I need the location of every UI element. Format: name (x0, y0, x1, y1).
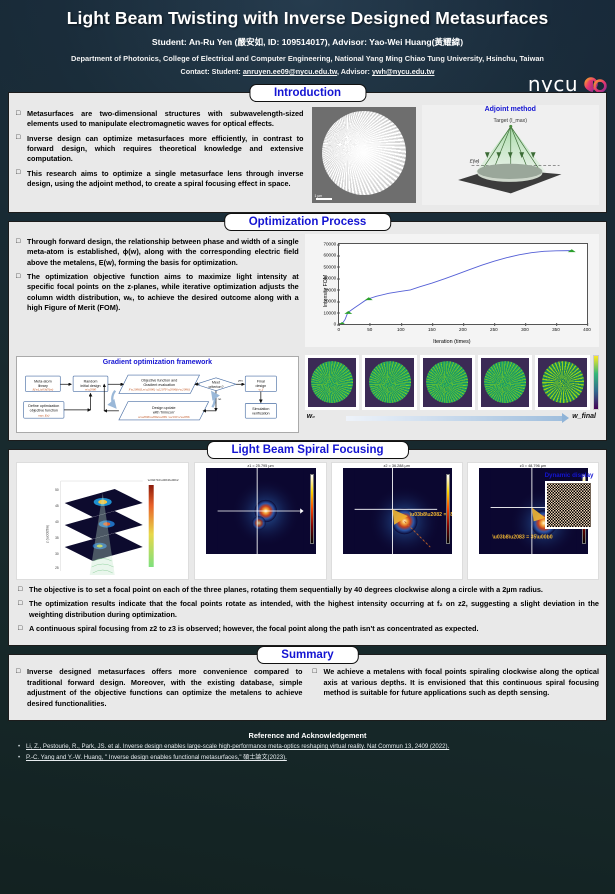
summary-bullet-right: We achieve a metalens with focal points … (313, 667, 600, 698)
fom-ytick: 60000 (323, 253, 336, 258)
svg-text:w\u2096\u208a\u2081 \u2190 w\u: w\u2096\u208a\u2081 \u2190 w\u2096 (138, 415, 190, 419)
summary-title: Summary (256, 646, 358, 664)
svg-text:35: 35 (55, 536, 59, 540)
authors-line: Student: An-Ru Yen (嚴安如, ID: 109514017),… (10, 36, 605, 48)
opt-bullet-1: Through forward design, the relationship… (16, 237, 299, 268)
svg-text:30: 30 (55, 552, 59, 556)
fom-ytick: 30000 (323, 287, 336, 292)
adjoint-target-label: Target (I_max) (494, 118, 527, 124)
w-final-label: w_final (572, 413, 596, 420)
focal-map-z1-image (206, 468, 315, 554)
focal-map-z1-colorbar (310, 474, 314, 544)
svg-text:50: 50 (55, 488, 59, 492)
summary-panel: Summary Inverse designed metasurfaces of… (8, 654, 607, 720)
reference-item-2: P.-C. Yang and Y.-W. Huang, " Inverse de… (16, 754, 599, 762)
svg-text:max I(x): max I(x) (38, 413, 49, 417)
svg-text:45: 45 (55, 504, 59, 508)
contact-prefix: Contact: Student: (181, 67, 243, 76)
dynamic-display-qr[interactable]: Dynamic display (537, 472, 601, 529)
3d-focal-stack-figure: 504540 353025 z (\u00b5m) \u00d710\u00b9… (16, 462, 189, 580)
3d-stack-svg: 504540 353025 z (\u00b5m) \u00d710\u00b9… (17, 463, 188, 581)
spiral-title: Light Beam Spiral Focusing (206, 441, 408, 459)
fom-ytick: 50000 (323, 264, 336, 269)
width-frame-3 (420, 355, 475, 410)
width-colorbar (593, 355, 599, 410)
svg-text:Simulation: Simulation (252, 407, 269, 411)
svg-text:w\u2080: w\u2080 (85, 388, 97, 392)
metasurface-disc (322, 111, 406, 195)
focal-map-z2: z2 = 36.288 µm \u03b8\u2082 = 45\u00b0 (331, 462, 463, 580)
svg-text:Final: Final (257, 379, 265, 383)
adjoint-diagram-svg: E(w) (422, 113, 600, 201)
svg-text:40: 40 (55, 520, 59, 524)
spiral-bullets: The objective is to set a focal point on… (16, 585, 599, 634)
width-evolution-row: w₀ w_final (305, 355, 599, 424)
intro-bullet-3: This research aims to optimize a single … (16, 169, 304, 190)
optimization-title: Optimization Process (224, 213, 392, 231)
w-initial-label: w₀ (307, 413, 315, 420)
fom-chart-container: Intensity FOM 01000020000300004000050000… (305, 234, 599, 347)
fom-xtick: 250 (490, 327, 498, 332)
svg-text:Define optimization: Define optimization (28, 404, 59, 408)
spiral-bullet-3: A continuous spiral focusing from z2 to … (18, 624, 599, 634)
fom-ytick: 0 (334, 322, 337, 327)
angle-label-z3: \u03b8\u2083 = 35\u00b0 (492, 535, 552, 541)
contact-advisor-email[interactable]: ywh@nycu.edu.tw (372, 67, 435, 76)
fom-xtick: 200 (459, 327, 467, 332)
svg-text:Meta-atom: Meta-atom (34, 379, 51, 383)
fom-markers (339, 244, 587, 324)
width-frame-5 (535, 355, 590, 410)
scale-bar (316, 198, 332, 200)
fom-xtick: 50 (367, 327, 372, 332)
svg-text:25: 25 (55, 566, 59, 570)
metasurface-sem-image: 1 µm (312, 107, 416, 203)
fom-chart-xlabel: Iteration (times) (433, 339, 470, 345)
width-frame-1 (305, 355, 360, 410)
svg-text:Random: Random (84, 379, 98, 383)
optimization-panel: Optimization Process Through forward des… (8, 221, 607, 441)
reference-item-1: Li, Z., Pestourie, R., Park, JS. et al. … (16, 743, 599, 751)
gradient-framework-diagram: Gradient optimization framework (16, 356, 299, 433)
svg-text:criterion?: criterion? (208, 385, 223, 389)
introduction-text: Metasurfaces are two-dimensional structu… (16, 105, 304, 194)
adjoint-field-label: E(w) (469, 159, 479, 165)
width-frames (305, 355, 599, 410)
introduction-figures: 1 µm Adjoint method (312, 105, 600, 205)
svg-text:Meet: Meet (212, 380, 220, 384)
svg-text:Design update: Design update (152, 406, 176, 410)
flow-title: Gradient optimization framework (20, 359, 295, 366)
fom-xtick: 100 (397, 327, 405, 332)
adjoint-method-title: Adjoint method (422, 105, 600, 113)
introduction-panel: Introduction Metasurfaces are two-dimens… (8, 92, 607, 213)
fom-ytick: 70000 (323, 242, 336, 247)
fom-ytick: 20000 (323, 299, 336, 304)
page-title: Light Beam Twisting with Inverse Designe… (10, 8, 605, 29)
qr-title: Dynamic display (537, 472, 601, 479)
fom-xtick: 150 (428, 327, 436, 332)
opt-bullet-2: The optimization objective function aims… (16, 272, 299, 313)
svg-text:\u00d710\u00b9\u00b2: \u00d710\u00b9\u00b2 (148, 478, 179, 482)
references-section: Reference and Acknowledgement Li, Z., Pe… (8, 729, 607, 769)
poster-header: Light Beam Twisting with Inverse Designe… (0, 0, 615, 78)
width-frame-2 (362, 355, 417, 410)
fom-xtick: 350 (552, 327, 560, 332)
scale-bar-label: 1 µm (315, 194, 323, 198)
fom-xtick: 400 (583, 327, 591, 332)
spiral-bullet-1: The objective is to set a focal point on… (18, 585, 599, 595)
svg-text:verification: verification (252, 411, 269, 415)
svg-text:yes: yes (238, 379, 243, 383)
svg-text:Gradient evaluation: Gradient evaluation (143, 383, 175, 387)
focal-map-z2-colorbar (446, 474, 450, 544)
intro-bullet-2: Inverse design can optimize metasurfaces… (16, 134, 304, 165)
z-axis-label: z (\u00b5m) (46, 525, 50, 543)
adjoint-method-figure: Adjoint method (422, 105, 600, 205)
poster-content: Light Beam Twisting with Inverse Designe… (0, 0, 615, 769)
svg-text:with 'fmincon': with 'fmincon' (153, 411, 175, 415)
width-progress-arrow: w₀ w_final (305, 411, 599, 424)
svg-text:no: no (218, 397, 222, 401)
spiral-focusing-panel: Light Beam Spiral Focusing (8, 449, 607, 646)
references-title: Reference and Acknowledgement (16, 731, 599, 740)
qr-code[interactable] (545, 481, 593, 529)
svg-text:E(w),\u03d5(w): E(w),\u03d5(w) (32, 388, 54, 393)
summary-bullet-left: Inverse designed metasurfaces offers mor… (16, 667, 303, 708)
introduction-title: Introduction (249, 84, 366, 102)
contact-line: Contact: Student: anruyen.ee09@nycu.edu.… (10, 67, 605, 76)
width-frame-4 (478, 355, 533, 410)
fom-xtick: 300 (521, 327, 529, 332)
department-line: Department of Photonics, College of Elec… (10, 54, 605, 63)
contact-student-email[interactable]: anruyen.ee09@nycu.edu.tw (243, 67, 337, 76)
spiral-bullet-2: The optimization results indicate that t… (18, 599, 599, 620)
flow-svg: Meta-atomlibrary Randominitial design De… (20, 368, 295, 428)
fom-chart: Intensity FOM 01000020000300004000050000… (308, 237, 596, 345)
fom-chart-plot: 0100002000030000400005000060000700000501… (338, 243, 588, 325)
intro-bullet-1: Metasurfaces are two-dimensional structu… (16, 109, 304, 130)
svg-text:Objective function and: Objective function and (141, 379, 177, 383)
focal-map-z1: z1 = 25.795 µm (194, 462, 326, 580)
fom-ytick: 40000 (323, 276, 336, 281)
fom-ytick: 10000 (323, 310, 336, 315)
svg-text:objective function: objective function (30, 409, 58, 413)
fom-xtick: 0 (337, 327, 340, 332)
contact-mid: , Advisor: (337, 67, 372, 76)
focal-map-z2-image: \u03b8\u2082 = 45\u00b0 (343, 468, 452, 554)
optimization-text: Through forward design, the relationship… (16, 234, 299, 318)
